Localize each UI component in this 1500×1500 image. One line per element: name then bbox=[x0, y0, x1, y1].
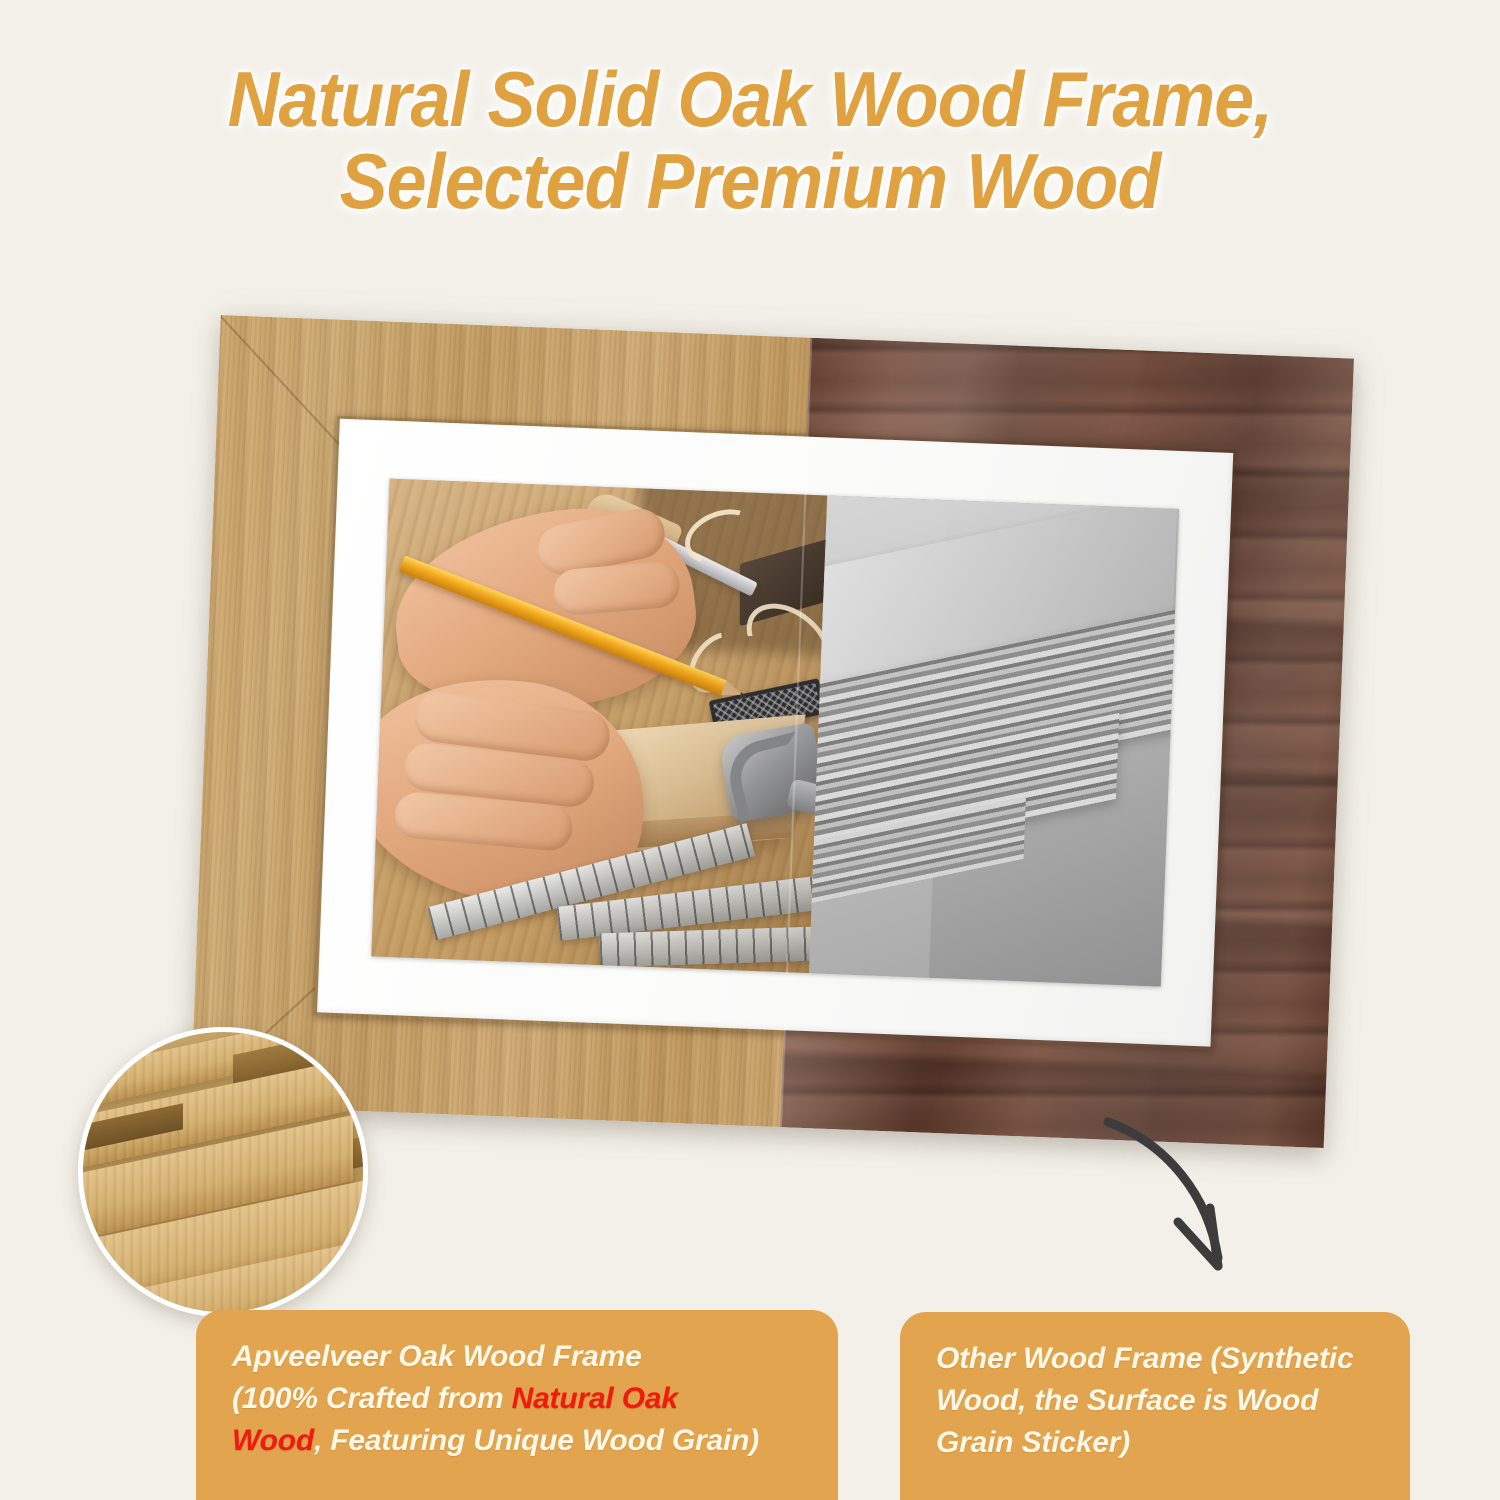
photo-carpenter-colour bbox=[371, 479, 827, 973]
caption-left-line3-post: , Featuring Unique Wood Grain) bbox=[314, 1424, 759, 1457]
caption-left-highlight-2: Wood bbox=[232, 1424, 314, 1457]
caption-left-line1: Apveelveer Oak Wood Frame bbox=[232, 1340, 642, 1373]
photo-vignette bbox=[371, 479, 827, 973]
caption-right-line2: Wood, the Surface is Wood bbox=[936, 1384, 1318, 1417]
caption-left-highlight-1: Natural Oak bbox=[512, 1382, 678, 1415]
product-frame bbox=[186, 300, 1356, 1130]
photo-synthetic-boards-greyscale bbox=[809, 495, 1179, 986]
frame-rotor bbox=[171, 300, 1371, 1144]
page-title: Natural Solid Oak Wood Frame, Selected P… bbox=[60, 58, 1440, 222]
framed-photo bbox=[371, 479, 1179, 987]
caption-right-line1: Other Wood Frame (Synthetic bbox=[936, 1342, 1353, 1375]
caption-right-line3: Grain Sticker) bbox=[936, 1426, 1130, 1459]
caption-left-line2-pre: (100% Crafted from bbox=[232, 1382, 512, 1415]
mitre-joint-top-right bbox=[1353, 315, 1354, 359]
caption-other-frame: Other Wood Frame (Synthetic Wood, the Su… bbox=[900, 1312, 1410, 1500]
frame-moulding bbox=[190, 315, 1353, 1148]
caption-oak-frame: Apveelveer Oak Wood Frame (100% Crafted … bbox=[196, 1310, 838, 1500]
oak-plank-detail-inset bbox=[78, 1027, 368, 1317]
